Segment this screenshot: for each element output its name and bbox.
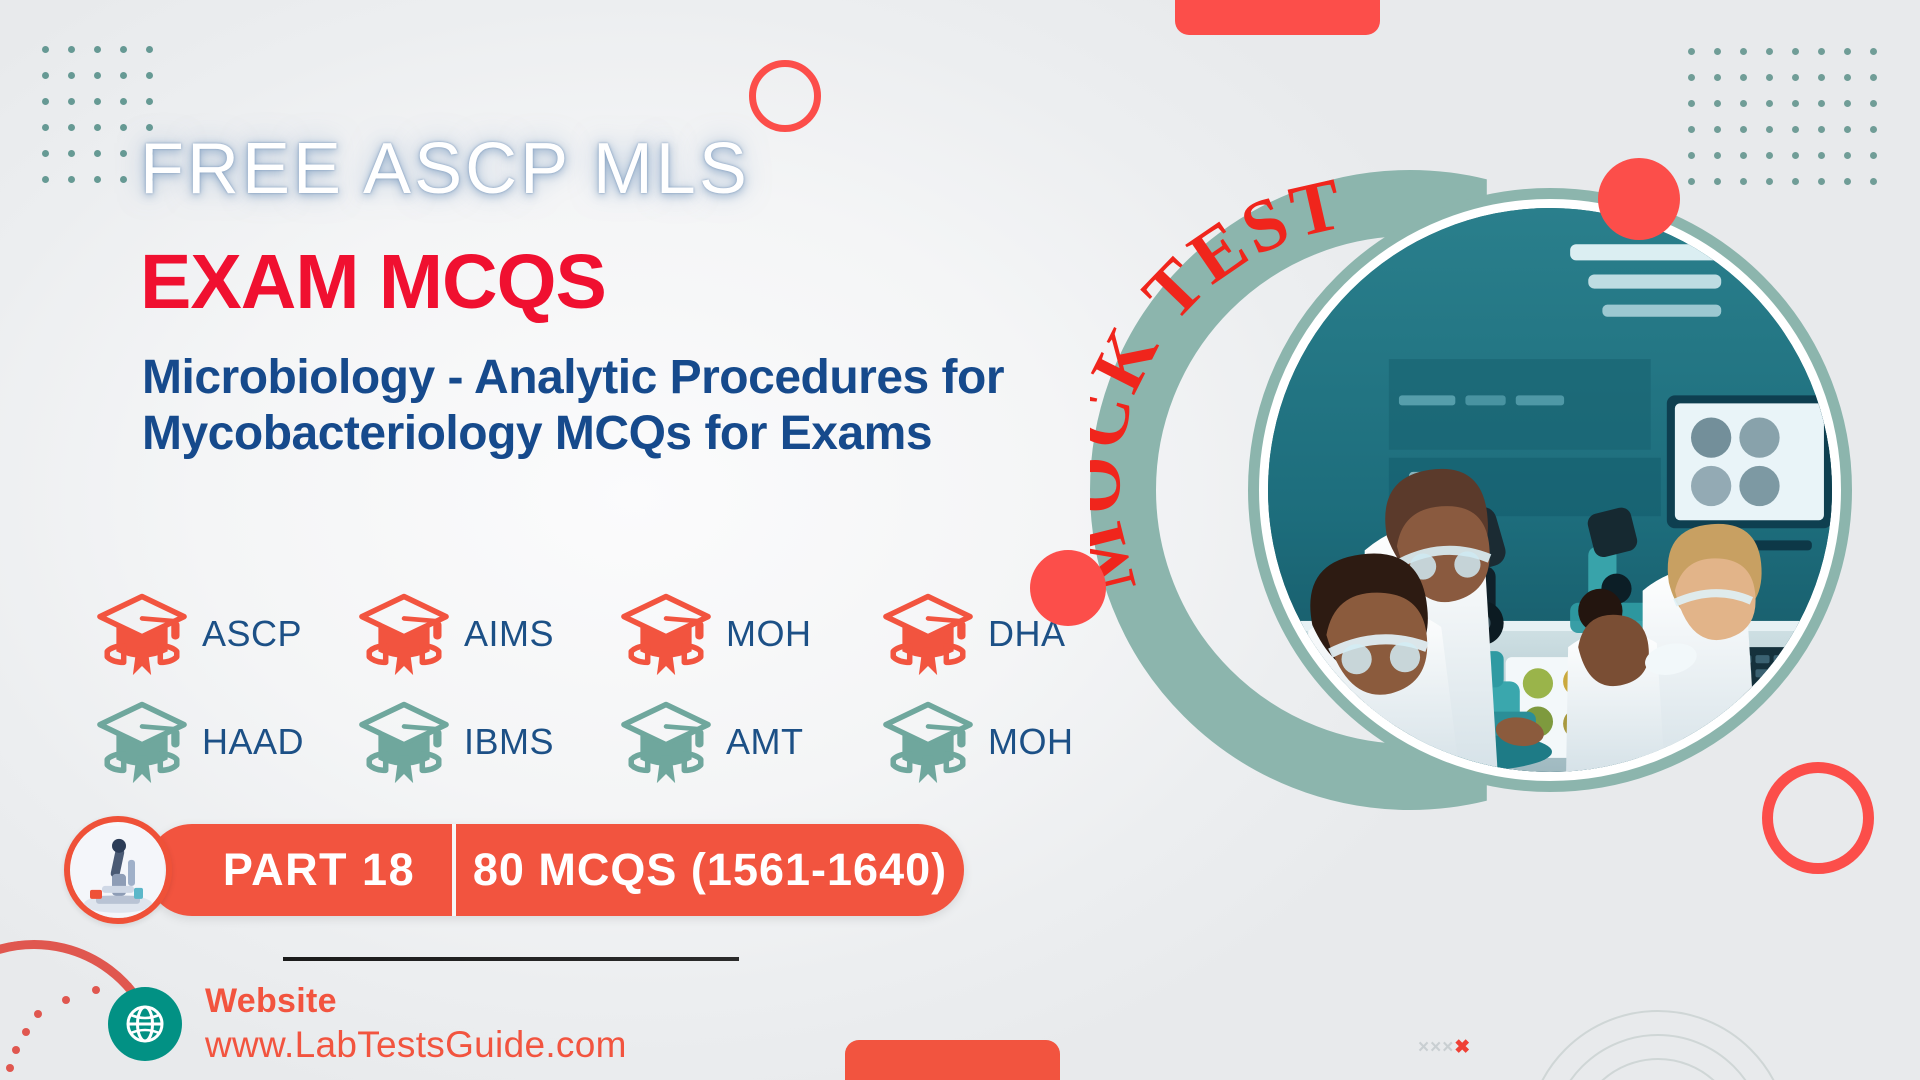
badge-label: ASCP bbox=[202, 613, 302, 655]
certification-badge-grid: ASCP AIMS MOH DHA HAAD IBMS AMT MOH bbox=[96, 580, 1106, 796]
mcq-count-label: 80 MCQS (1561-1640) bbox=[456, 844, 964, 896]
lab-students-microscopes-photo bbox=[1268, 208, 1832, 772]
badge-amt-6: AMT bbox=[620, 688, 882, 796]
graduation-cap-icon bbox=[96, 699, 188, 785]
website-label: Website bbox=[205, 982, 337, 1021]
graduation-cap-icon bbox=[882, 699, 974, 785]
badge-ibms-5: IBMS bbox=[358, 688, 620, 796]
globe-icon bbox=[108, 987, 182, 1061]
part-banner[interactable]: PART 18 80 MCQS (1561-1640) bbox=[146, 824, 964, 916]
graduation-cap-icon bbox=[358, 591, 450, 677]
artwork-panel: MOCK TEST bbox=[1090, 150, 1870, 910]
decor-concentric-rings bbox=[1508, 992, 1808, 1080]
poster-canvas: ×××✖ FREE ASCP MLS EXAM MCQS Microbiolog… bbox=[0, 0, 1920, 1080]
page-title-line1: FREE ASCP MLS bbox=[140, 128, 750, 210]
badge-label: IBMS bbox=[464, 721, 554, 763]
badge-label: HAAD bbox=[202, 721, 304, 763]
badge-label: AMT bbox=[726, 721, 804, 763]
badge-label: MOH bbox=[726, 613, 812, 655]
lab-photo-frame bbox=[1248, 188, 1852, 792]
badge-label: MOH bbox=[988, 721, 1074, 763]
page-title-line2: EXAM MCQS bbox=[140, 238, 606, 327]
graduation-cap-icon bbox=[358, 699, 450, 785]
part-label: PART 18 bbox=[146, 844, 452, 896]
decor-dot-red-left bbox=[1030, 550, 1106, 626]
website-url[interactable]: www.LabTestsGuide.com bbox=[205, 1024, 627, 1066]
decor-dot-red-top bbox=[1598, 158, 1680, 240]
graduation-cap-icon bbox=[620, 699, 712, 785]
badge-ascp-0: ASCP bbox=[96, 580, 358, 688]
badge-moh-2: MOH bbox=[620, 580, 882, 688]
badge-label: AIMS bbox=[464, 613, 554, 655]
badge-aims-1: AIMS bbox=[358, 580, 620, 688]
footer-divider bbox=[283, 957, 739, 961]
graduation-cap-icon bbox=[620, 591, 712, 677]
decor-x-marks: ×××✖ bbox=[1418, 1036, 1471, 1059]
graduation-cap-icon bbox=[882, 591, 974, 677]
badge-haad-4: HAAD bbox=[96, 688, 358, 796]
left-content: FREE ASCP MLS EXAM MCQS Microbiology - A… bbox=[0, 0, 1180, 1080]
page-subtitle: Microbiology - Analytic Procedures for M… bbox=[142, 350, 1152, 461]
graduation-cap-icon bbox=[96, 591, 188, 677]
decor-top-red-rectangle bbox=[1175, 0, 1380, 35]
microscope-icon bbox=[64, 816, 172, 924]
